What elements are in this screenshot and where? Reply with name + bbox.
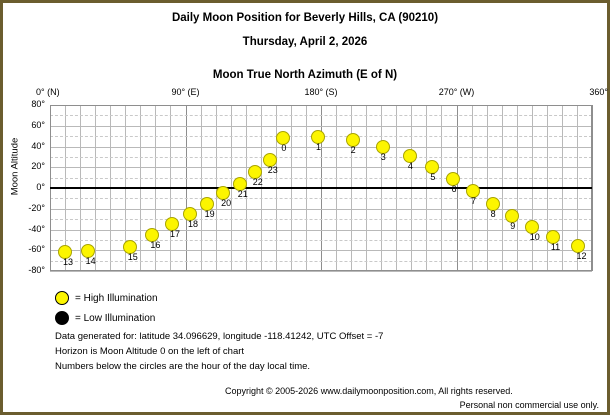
x-tick-label: 270° (W)	[435, 87, 479, 97]
data-point-hour-label: 12	[576, 251, 586, 261]
data-point-hour-label: 23	[268, 165, 278, 175]
footer-copyright: Copyright © 2005-2026 www.dailymoonposit…	[225, 386, 513, 396]
legend-high-illumination-icon	[55, 291, 69, 305]
data-point-hour-label: 18	[188, 219, 198, 229]
note-horizon: Horizon is Moon Altitude 0 on the left o…	[55, 346, 244, 357]
x-tick-label: 360°	[564, 87, 608, 97]
data-point-hour-label: 15	[128, 252, 138, 262]
gridline-horizontal	[50, 271, 592, 272]
data-point-hour-label: 2	[351, 145, 356, 155]
gridline-vertical	[592, 105, 593, 271]
chart-canvas: Daily Moon Position for Beverly Hills, C…	[3, 3, 607, 412]
y-tick-label: 20°	[3, 161, 45, 171]
data-point-hour-label: 5	[430, 172, 435, 182]
x-tick-label: 0° (N)	[36, 87, 80, 97]
page-subtitle: Thursday, April 2, 2026	[3, 36, 607, 48]
data-point-hour-label: 21	[238, 189, 248, 199]
data-point-hour-label: 16	[150, 240, 160, 250]
data-point-hour-label: 14	[86, 256, 96, 266]
data-point-hour-label: 8	[491, 209, 496, 219]
y-tick-label: 0°	[3, 182, 45, 192]
data-point-hour-label: 4	[408, 161, 413, 171]
data-point-hour-label: 22	[253, 177, 263, 187]
footer-usage: Personal non commercial use only.	[460, 400, 599, 410]
x-tick-label: 90° (E)	[164, 87, 208, 97]
x-tick-label: 180° (S)	[299, 87, 343, 97]
legend-high-illumination-label: = High Illumination	[75, 293, 158, 304]
legend-low-illumination-icon	[55, 311, 69, 325]
data-point-hour-label: 20	[221, 198, 231, 208]
data-point-hour-label: 3	[381, 152, 386, 162]
y-tick-label: -60°	[3, 244, 45, 254]
x-axis-title: Moon True North Azimuth (E of N)	[3, 69, 607, 81]
data-point-hour-label: 0	[281, 143, 286, 153]
data-point-hour-label: 1	[316, 142, 321, 152]
note-location: Data generated for: latitude 34.096629, …	[55, 331, 383, 342]
data-point-hour-label: 6	[451, 184, 456, 194]
y-tick-label: -80°	[3, 265, 45, 275]
y-tick-label: 60°	[3, 120, 45, 130]
y-tick-label: -20°	[3, 203, 45, 213]
page-title: Daily Moon Position for Beverly Hills, C…	[3, 12, 607, 24]
data-point-hour-label: 11	[551, 242, 560, 252]
data-point-hour-label: 9	[510, 221, 515, 231]
note-hour-numbers: Numbers below the circles are the hour o…	[55, 361, 310, 372]
y-tick-label: 80°	[3, 99, 45, 109]
y-tick-label: -40°	[3, 224, 45, 234]
data-point-hour-label: 19	[205, 209, 215, 219]
data-point-hour-label: 17	[170, 229, 180, 239]
data-point-hour-label: 13	[63, 257, 73, 267]
y-tick-label: 40°	[3, 141, 45, 151]
data-point-hour-label: 10	[530, 232, 540, 242]
horizon-line	[50, 187, 592, 189]
data-point-hour-label: 7	[471, 196, 476, 206]
legend-low-illumination-label: = Low Illumination	[75, 313, 155, 324]
plot-area: 01234567891011121314151617181920212223	[50, 105, 592, 271]
